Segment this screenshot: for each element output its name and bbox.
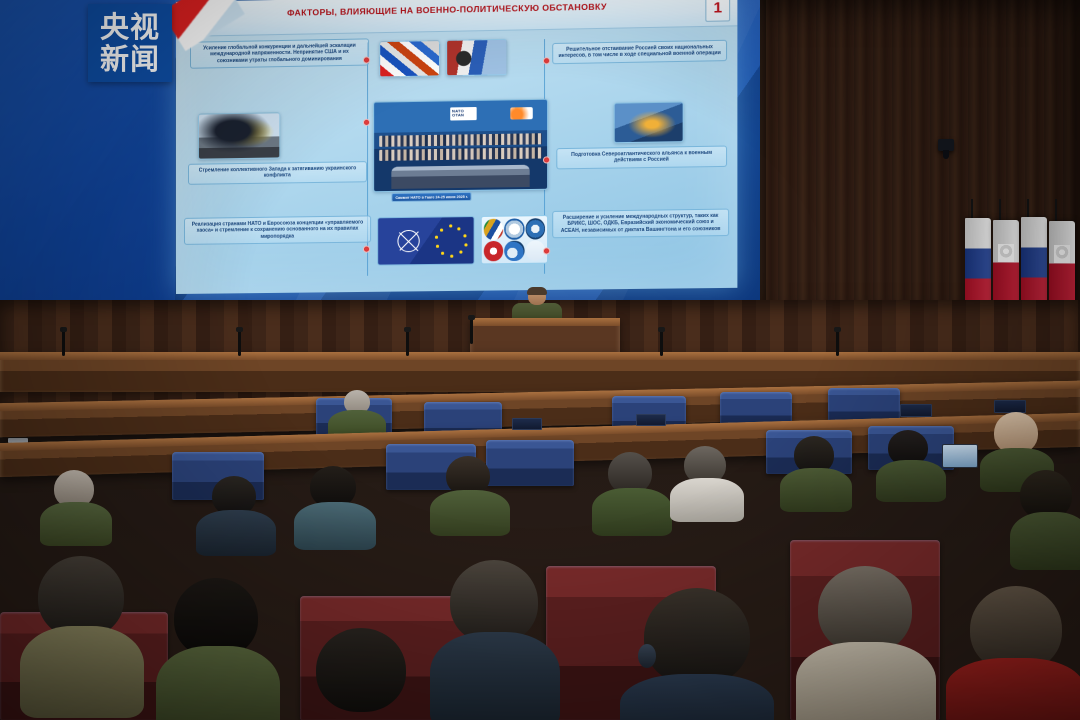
earbud-icon: [638, 644, 656, 668]
attendee-front: [156, 578, 276, 720]
nato-logo-line2: OTAN: [452, 113, 464, 118]
microphone-icon: [62, 330, 65, 356]
cctv-news-watermark: 央视 新闻: [88, 4, 172, 82]
desk-monitor: [900, 404, 932, 417]
nato-otan-logo-icon: NATO OTAN: [450, 107, 476, 121]
factor-box-top-left: Усиление глобальной конкуренции и дальне…: [190, 38, 369, 68]
attendee: [876, 430, 944, 496]
attendee-front: [20, 556, 140, 706]
attendee: [294, 466, 374, 542]
factor-box-bottom-right: Расширение и усиление международных стру…: [552, 209, 729, 239]
photo-flags-collage: [379, 40, 440, 77]
sco-logo-icon: [505, 218, 525, 239]
watermark-line-2: 新闻: [100, 44, 160, 75]
tablet-device-icon: [942, 444, 978, 468]
summit-caption: Саммит НАТО в Гааге 24-25 июня 2025 г.: [391, 192, 472, 202]
bullet-dot: [543, 156, 550, 163]
logo-nato-eu-flags: [377, 216, 474, 266]
summit-graphic-icon: [511, 107, 533, 119]
flag-russia: [965, 218, 991, 310]
microphone-icon: [470, 318, 473, 344]
slide-number-badge: 1: [705, 0, 730, 22]
attendee-front: [796, 566, 932, 720]
photo-burning-vehicle: [198, 112, 280, 159]
factor-box-top-right: Решительное отстаивание Россией своих на…: [552, 40, 727, 64]
attendee: [780, 436, 850, 504]
photo-soldier: [446, 39, 507, 76]
microphone-icon: [406, 330, 409, 356]
logo-panel-organizations: [481, 215, 548, 264]
red-scarf: [946, 658, 1080, 720]
eu-stars-icon: [433, 225, 468, 260]
watermark-line-1: 央视: [100, 12, 160, 43]
factor-box-mid-right: Подготовка Североатлантического альянса …: [556, 146, 727, 169]
photo-fighter-jet: [614, 102, 684, 144]
eaeu-logo-icon: [505, 240, 525, 261]
attendee: [430, 456, 508, 530]
attendee-front-scarf: [946, 586, 1080, 720]
bullet-dot: [363, 246, 370, 253]
bullet-dot: [363, 119, 370, 126]
attendee: [592, 452, 670, 528]
attendee-with-tablet: [942, 444, 976, 468]
attendee: [196, 476, 274, 550]
factor-box-mid-left: Стремление коллективного Запада к затяги…: [188, 161, 367, 184]
bullet-dot: [543, 57, 550, 64]
summit-round-table: [391, 165, 529, 189]
desk-monitor: [512, 418, 542, 430]
asean-logo-icon: [484, 240, 504, 261]
photo-nato-summit: NATO OTAN: [373, 99, 548, 193]
factor-box-bottom-left: Реализация странами НАТО и Евросоюза кон…: [184, 215, 371, 244]
microphone-icon: [660, 330, 663, 356]
wall-camera-icon: [938, 139, 954, 151]
attendee-front: [296, 628, 424, 720]
nato-compass-star-icon: [397, 230, 419, 252]
summit-delegates-row: [379, 147, 542, 161]
attendee: [40, 470, 110, 540]
brics-logo-icon: [484, 219, 504, 240]
flag-russia: [1021, 217, 1047, 309]
summit-delegates-row: [379, 134, 542, 148]
attendee: [1010, 470, 1080, 560]
flag-mod: [993, 220, 1019, 312]
microphone-icon: [238, 330, 241, 356]
projection-slide: ФАКТОРЫ, ВЛИЯЮЩИЕ НА ВОЕННО-ПОЛИТИЧЕСКУЮ…: [176, 0, 737, 294]
desk-monitor: [636, 414, 666, 426]
attendee-front-earbud: [620, 588, 770, 720]
csto-logo-icon: [525, 218, 545, 239]
attendee-front: [430, 560, 556, 720]
microphone-icon: [836, 330, 839, 356]
bullet-dot: [543, 247, 550, 254]
attendee: [670, 446, 742, 516]
screenshot-root: ФАКТОРЫ, ВЛИЯЮЩИЕ НА ВОЕННО-ПОЛИТИЧЕСКУЮ…: [0, 0, 1080, 720]
